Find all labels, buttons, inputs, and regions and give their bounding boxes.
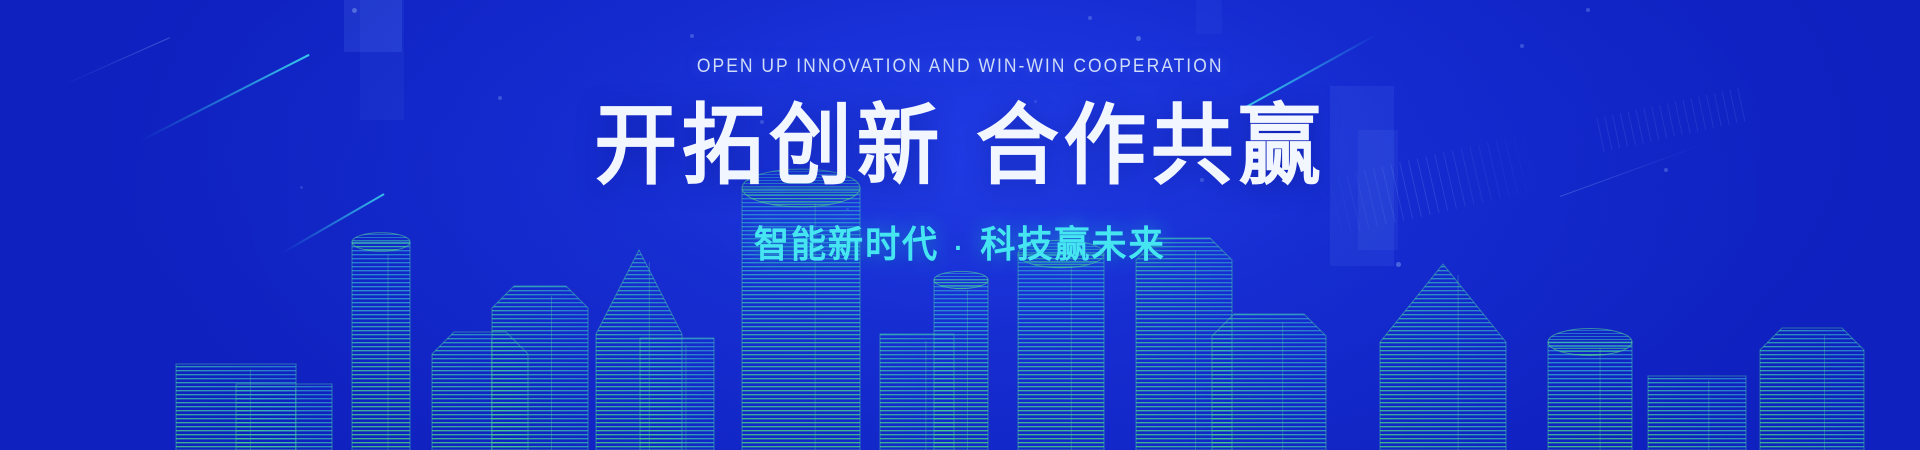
skyline-building	[236, 384, 332, 450]
skyline-building	[1018, 240, 1104, 450]
decor-particle-dot	[1088, 16, 1092, 20]
skyline-building	[352, 233, 410, 450]
decor-particle-dot	[1136, 36, 1141, 41]
city-skyline-graphic	[0, 150, 1920, 450]
skyline-building	[640, 338, 714, 450]
decor-particle-dot	[352, 8, 357, 13]
decor-particle-dot	[760, 120, 764, 124]
skyline-building	[1380, 264, 1506, 450]
decor-particle-dot	[1034, 100, 1037, 103]
decor-particle-dot	[498, 96, 502, 100]
skyline-building	[1212, 314, 1326, 450]
skyline-building	[742, 169, 860, 450]
skyline-building	[492, 286, 588, 450]
decor-particle-dot	[1520, 44, 1524, 48]
skyline-building	[1760, 328, 1864, 450]
skyline-building	[934, 271, 988, 450]
decor-particle-dot	[690, 34, 694, 38]
promo-banner: OPEN UP INNOVATION AND WIN-WIN COOPERATI…	[0, 0, 1920, 450]
skyline-building	[1548, 329, 1632, 450]
decor-rectangle-top-left-tall	[360, 0, 404, 120]
skyline-building	[1648, 376, 1746, 450]
decor-rectangle-small	[1196, 0, 1222, 34]
decor-particle-dot	[1586, 8, 1590, 12]
